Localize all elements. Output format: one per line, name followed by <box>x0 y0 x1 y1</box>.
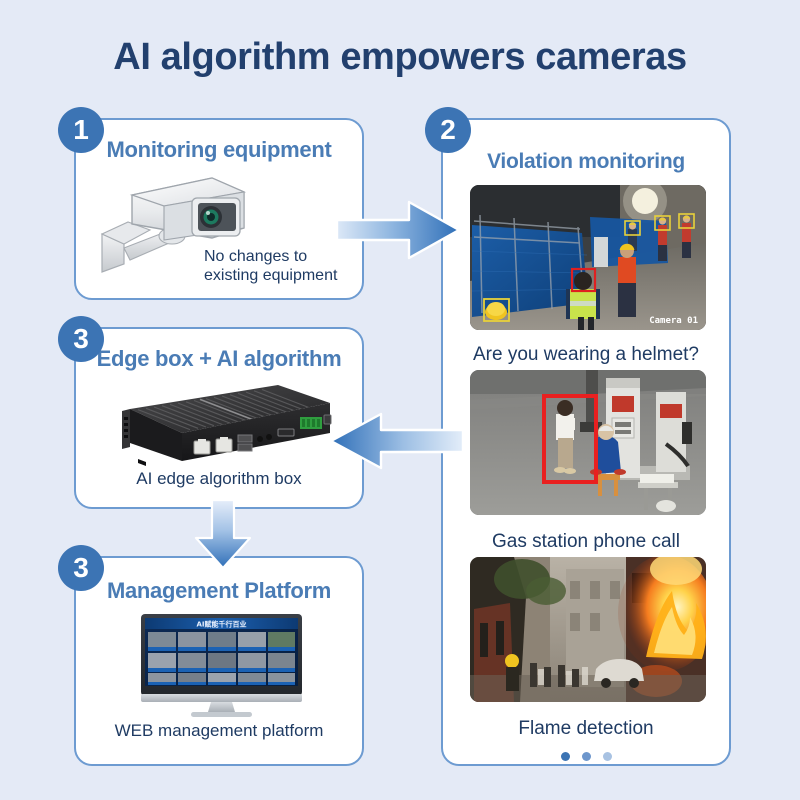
card-monitoring-equipment[interactable]: Monitoring equipment <box>74 118 364 300</box>
caption-line-2: existing equipment <box>204 267 364 286</box>
card-edge-box[interactable]: Edge box + AI algorithm <box>74 327 364 509</box>
carousel-dot-1[interactable] <box>561 752 570 761</box>
carousel-dots[interactable] <box>443 752 729 761</box>
step-badge-4: 3 <box>58 545 104 591</box>
card-title-edge-box: Edge box + AI algorithm <box>76 346 362 372</box>
arrow-left-icon <box>325 410 463 472</box>
page-title: AI algorithm empowers cameras <box>0 36 800 79</box>
shot-gas-station-phone-call[interactable] <box>470 370 706 515</box>
camera-overlay-label: Camera 01 <box>649 316 698 326</box>
carousel-dot-2[interactable] <box>582 752 591 761</box>
card-title-violation-monitoring: Violation monitoring <box>443 150 729 174</box>
web-platform-monitor-icon: AI赋能千行百业 <box>139 614 304 719</box>
step-badge-3: 3 <box>58 316 104 362</box>
step-badge-1: 1 <box>58 107 104 153</box>
card-title-monitoring-equipment: Monitoring equipment <box>76 137 362 163</box>
caption-edge-box: AI edge algorithm box <box>76 469 362 489</box>
arrow-down-icon <box>190 500 256 570</box>
monitor-header-text: AI赋能千行百业 <box>196 620 246 629</box>
card-title-management-platform: Management Platform <box>76 578 362 604</box>
card-management-platform[interactable]: Management Platform <box>74 556 364 766</box>
step-badge-2: 2 <box>425 107 471 153</box>
card-violation-monitoring[interactable]: Violation monitoring <box>441 118 731 766</box>
shot-flame-detection[interactable] <box>470 557 706 702</box>
shot-caption-flame: Flame detection <box>443 718 729 740</box>
edge-box-device-icon <box>108 381 334 467</box>
shot-caption-gas-station: Gas station phone call <box>443 531 729 553</box>
arrow-right-icon <box>337 196 462 264</box>
caption-web-platform: WEB management platform <box>76 721 362 741</box>
carousel-dot-3[interactable] <box>603 752 612 761</box>
shot-caption-helmet: Are you wearing a helmet? <box>443 344 729 366</box>
shot-helmet-detection[interactable]: Camera 01 <box>470 185 706 330</box>
